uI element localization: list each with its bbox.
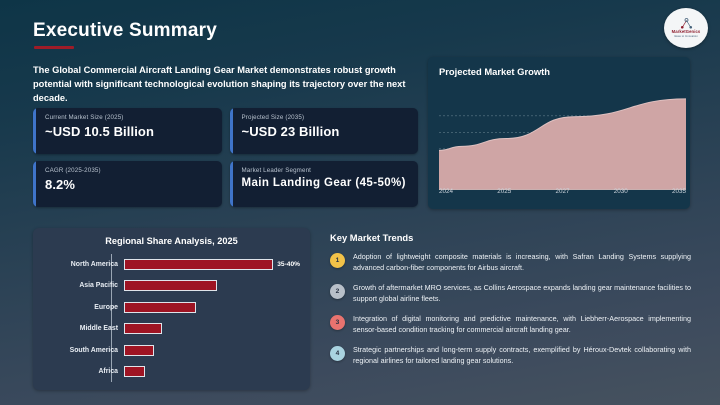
bar-track xyxy=(124,320,300,337)
bar-fill xyxy=(124,366,145,377)
trend-number-badge: 4 xyxy=(330,346,345,361)
stat-label: Current Market Size (2025) xyxy=(45,114,213,121)
bar-category-label: Asia Pacific xyxy=(46,282,124,289)
trend-text: Growth of aftermarket MRO services, as C… xyxy=(353,283,691,305)
bar-fill xyxy=(124,259,273,270)
logo-name: MarketGenics xyxy=(672,30,701,34)
bar-row: Middle East xyxy=(46,320,300,337)
bar-fill xyxy=(124,302,196,313)
x-tick-2035: 2035 xyxy=(672,188,686,198)
chart-x-tick-labels: 20242025202720302035 xyxy=(439,188,686,198)
bar-track xyxy=(124,342,300,359)
stat-value: Main Landing Gear (45-50%) xyxy=(242,177,410,189)
bar-row: Europe xyxy=(46,299,300,316)
x-tick-2030: 2030 xyxy=(614,188,628,198)
logo-tagline: Ideas to Innovation xyxy=(674,35,698,38)
stat-value: ~USD 10.5 Billion xyxy=(45,124,213,139)
trend-list: 1Adoption of lightweight composite mater… xyxy=(325,252,697,367)
stat-value: ~USD 23 Billion xyxy=(242,124,410,139)
slide-root: Executive Summary MarketGenics Ideas to … xyxy=(0,0,720,405)
bar-row: North America35-40% xyxy=(46,256,300,273)
x-tick-2025: 2025 xyxy=(497,188,511,198)
bar-category-label: Africa xyxy=(46,368,124,375)
stat-card-cagr: CAGR (2025-2035) 8.2% xyxy=(33,161,222,207)
bar-fill xyxy=(124,345,154,356)
bar-track xyxy=(124,363,300,380)
chart-title: Projected Market Growth xyxy=(439,66,550,77)
trend-item-4: 4Strategic partnerships and long-term su… xyxy=(325,345,697,367)
x-tick-2027: 2027 xyxy=(555,188,569,198)
trend-number-badge: 1 xyxy=(330,253,345,268)
bar-fill xyxy=(124,323,162,334)
trend-number-badge: 3 xyxy=(330,315,345,330)
area-chart-plot xyxy=(439,87,686,190)
trend-item-3: 3Integration of digital monitoring and p… xyxy=(325,314,697,336)
chart-title: Regional Share Analysis, 2025 xyxy=(33,236,310,246)
bar-category-label: South America xyxy=(46,347,124,354)
stat-card-market-leader-segment: Market Leader Segment Main Landing Gear … xyxy=(230,161,419,207)
trend-text: Adoption of lightweight composite materi… xyxy=(353,252,691,274)
bar-category-label: Europe xyxy=(46,304,124,311)
network-node-icon xyxy=(680,18,693,29)
area-chart-svg xyxy=(439,87,686,190)
bar-fill xyxy=(124,280,217,291)
x-tick-2024: 2024 xyxy=(439,188,453,198)
bar-chart: North America35-40%Asia PacificEuropeMid… xyxy=(46,256,300,380)
stat-value: 8.2% xyxy=(45,177,213,192)
stat-label: Market Leader Segment xyxy=(242,167,410,174)
trend-item-1: 1Adoption of lightweight composite mater… xyxy=(325,252,697,274)
stat-card-projected-size: Projected Size (2035) ~USD 23 Billion xyxy=(230,108,419,154)
title-underline xyxy=(34,46,74,49)
bar-row: Africa xyxy=(46,363,300,380)
page-title: Executive Summary xyxy=(33,20,217,42)
stat-label: CAGR (2025-2035) xyxy=(45,167,213,174)
bar-category-label: Middle East xyxy=(46,325,124,332)
trends-title: Key Market Trends xyxy=(330,232,697,243)
bar-track: 35-40% xyxy=(124,256,300,273)
intro-paragraph: The Global Commercial Aircraft Landing G… xyxy=(33,63,411,105)
bar-track xyxy=(124,277,300,294)
key-market-trends-panel: Key Market Trends 1Adoption of lightweig… xyxy=(325,228,697,390)
trend-item-2: 2Growth of aftermarket MRO services, as … xyxy=(325,283,697,305)
bar-value-label: 35-40% xyxy=(277,261,300,268)
bar-row: Asia Pacific xyxy=(46,277,300,294)
bar-track xyxy=(124,299,300,316)
trend-text: Strategic partnerships and long-term sup… xyxy=(353,345,691,367)
stat-card-grid: Current Market Size (2025) ~USD 10.5 Bil… xyxy=(33,108,418,207)
bar-category-label: North America xyxy=(46,261,124,268)
trend-text: Integration of digital monitoring and pr… xyxy=(353,314,691,336)
bar-row: South America xyxy=(46,342,300,359)
brand-logo: MarketGenics Ideas to Innovation xyxy=(664,8,708,48)
projected-market-growth-panel: Projected Market Growth 2024202520272030… xyxy=(428,57,690,209)
stat-card-current-market-size: Current Market Size (2025) ~USD 10.5 Bil… xyxy=(33,108,222,154)
regional-share-panel: Regional Share Analysis, 2025 North Amer… xyxy=(33,228,310,390)
trend-number-badge: 2 xyxy=(330,284,345,299)
stat-label: Projected Size (2035) xyxy=(242,114,410,121)
